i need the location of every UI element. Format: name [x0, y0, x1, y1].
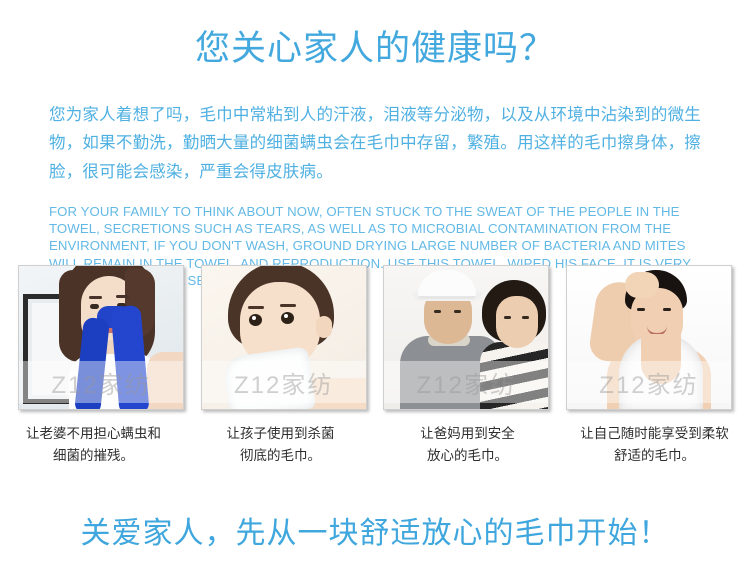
- photo-card-elderly-couple[interactable]: Z12家纺: [383, 265, 549, 410]
- chinese-paragraph: 您为家人着想了吗，毛巾中常粘到人的汗液，泪液等分泌物，以及从环境中沾染到的微生物…: [49, 101, 701, 186]
- caption-line: 细菌的摧残。: [0, 446, 187, 468]
- caption-line: 彻底的毛巾。: [187, 446, 374, 468]
- caption-elderly-couple: 让爸妈用到安全 放心的毛巾。: [374, 424, 561, 468]
- caption-baby: 让孩子使用到杀菌 彻底的毛巾。: [187, 424, 374, 468]
- photo-woman-with-blue-towel: [19, 266, 183, 409]
- caption-line: 让孩子使用到杀菌: [187, 424, 374, 446]
- photo-man-with-white-towel: [567, 266, 731, 409]
- caption-line: 放心的毛巾。: [374, 446, 561, 468]
- photo-baby-with-white-towel: [202, 266, 366, 409]
- photo-strip: Z12家纺 Z12家纺: [18, 265, 732, 413]
- page-title: 您关心家人的健康吗？: [0, 0, 750, 69]
- photo-elderly-couple: [384, 266, 548, 409]
- caption-line: 让自己随时能享受到柔软: [561, 424, 748, 446]
- caption-row: 让老婆不用担心螨虫和 细菌的摧残。 让孩子使用到杀菌 彻底的毛巾。 让爸妈用到安…: [0, 424, 750, 468]
- caption-line: 舒适的毛巾。: [561, 446, 748, 468]
- photo-card-man[interactable]: Z12家纺: [566, 265, 732, 410]
- caption-line: 让爸妈用到安全: [374, 424, 561, 446]
- caption-man: 让自己随时能享受到柔软 舒适的毛巾。: [561, 424, 748, 468]
- caption-line: 让老婆不用担心螨虫和: [0, 424, 187, 446]
- caption-woman: 让老婆不用担心螨虫和 细菌的摧残。: [0, 424, 187, 468]
- promo-page: 您关心家人的健康吗？ 您为家人着想了吗，毛巾中常粘到人的汗液，泪液等分泌物，以及…: [0, 0, 750, 564]
- photo-card-baby[interactable]: Z12家纺: [201, 265, 367, 410]
- footer-slogan: 关爱家人，先从一块舒适放心的毛巾开始！: [0, 508, 750, 552]
- body-copy-block: 您为家人着想了吗，毛巾中常粘到人的汗液，泪液等分泌物，以及从环境中沾染到的微生物…: [49, 69, 701, 290]
- photo-card-woman[interactable]: Z12家纺: [18, 265, 184, 410]
